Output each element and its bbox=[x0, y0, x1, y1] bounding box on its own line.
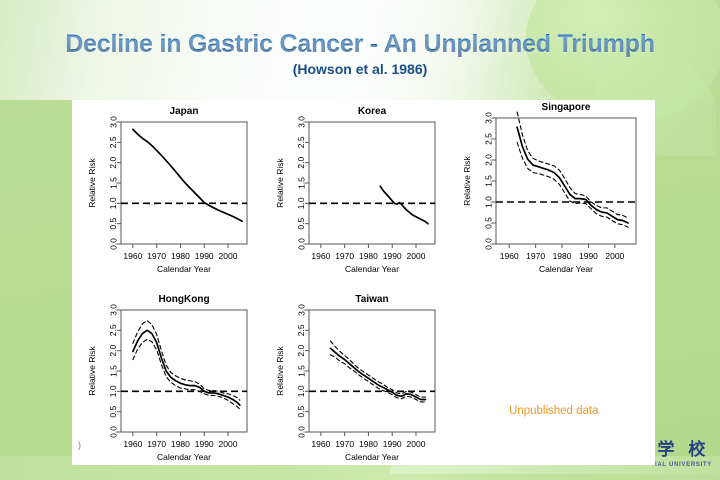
y-tick-label: 0.0 bbox=[483, 238, 493, 250]
x-axis-label: Calendar Year bbox=[539, 264, 593, 274]
y-tick-label: 1.0 bbox=[108, 385, 118, 397]
y-tick-label: 1.0 bbox=[108, 197, 118, 209]
chart-title: Japan bbox=[170, 106, 199, 117]
y-axis-label: Relative Risk bbox=[275, 345, 285, 395]
series-estimate bbox=[517, 127, 628, 223]
x-tick-label: 1980 bbox=[359, 251, 378, 261]
y-tick-label: 2.0 bbox=[108, 344, 118, 356]
y-tick-label: 1.5 bbox=[108, 177, 118, 189]
x-tick-label: 2000 bbox=[605, 251, 624, 261]
y-tick-label: 2.5 bbox=[296, 136, 306, 148]
y-tick-label: 0.5 bbox=[108, 217, 118, 229]
y-tick-label: 2.5 bbox=[108, 324, 118, 336]
x-tick-label: 1990 bbox=[195, 251, 214, 261]
series-estimate bbox=[133, 129, 242, 221]
x-tick-label: 1960 bbox=[123, 251, 142, 261]
y-tick-label: 1.5 bbox=[296, 365, 306, 377]
title-block: Decline in Gastric Cancer - An Unplanned… bbox=[0, 30, 720, 77]
y-tick-label: 0.5 bbox=[483, 217, 493, 229]
plot-frame bbox=[309, 310, 435, 432]
x-tick-label: 1990 bbox=[579, 251, 598, 261]
x-tick-label: 1970 bbox=[335, 251, 354, 261]
series-estimate bbox=[133, 330, 240, 405]
x-tick-label: 1960 bbox=[123, 439, 142, 449]
plot-frame bbox=[121, 122, 247, 244]
y-tick-label: 0.5 bbox=[296, 217, 306, 229]
chart-title: HongKong bbox=[158, 294, 209, 305]
logo-caption: IAL UNIVERSITY bbox=[655, 462, 712, 468]
y-tick-label: 3.0 bbox=[296, 116, 306, 128]
x-tick-label: 1960 bbox=[500, 251, 519, 261]
stray-mark: ) bbox=[78, 440, 81, 450]
y-tick-label: 2.5 bbox=[483, 133, 493, 145]
university-logo: 学 校 IAL UNIVERSITY bbox=[655, 442, 712, 468]
chart-title: Singapore bbox=[542, 102, 591, 113]
y-axis-label: Relative Risk bbox=[87, 157, 97, 207]
x-tick-label: 1960 bbox=[311, 439, 330, 449]
y-tick-label: 2.5 bbox=[108, 136, 118, 148]
page-subtitle: (Howson et al. 1986) bbox=[0, 61, 720, 77]
x-axis-label: Calendar Year bbox=[345, 264, 399, 274]
y-tick-label: 1.5 bbox=[483, 175, 493, 187]
x-tick-label: 1970 bbox=[147, 439, 166, 449]
series-lower bbox=[133, 339, 240, 409]
y-tick-label: 0.0 bbox=[296, 238, 306, 250]
y-tick-label: 3.0 bbox=[108, 116, 118, 128]
y-tick-label: 2.0 bbox=[296, 344, 306, 356]
x-tick-label: 2000 bbox=[407, 439, 426, 449]
x-tick-label: 1990 bbox=[383, 439, 402, 449]
y-tick-label: 1.5 bbox=[108, 365, 118, 377]
x-axis-label: Calendar Year bbox=[157, 264, 211, 274]
page-title: Decline in Gastric Cancer - An Unplanned… bbox=[0, 30, 720, 59]
x-tick-label: 2000 bbox=[219, 439, 238, 449]
y-tick-label: 3.0 bbox=[108, 304, 118, 316]
x-tick-label: 1990 bbox=[383, 251, 402, 261]
chart-panel-singapore: Singapore0.00.51.01.52.02.53.0Relative R… bbox=[462, 102, 636, 274]
x-tick-label: 1990 bbox=[195, 439, 214, 449]
y-tick-label: 0.0 bbox=[108, 238, 118, 250]
y-tick-label: 3.0 bbox=[296, 304, 306, 316]
y-tick-label: 2.5 bbox=[296, 324, 306, 336]
chart-title: Taiwan bbox=[355, 294, 388, 305]
x-tick-label: 1970 bbox=[335, 439, 354, 449]
y-tick-label: 1.5 bbox=[296, 177, 306, 189]
x-tick-label: 1980 bbox=[171, 251, 190, 261]
y-tick-label: 1.0 bbox=[296, 197, 306, 209]
y-tick-label: 0.5 bbox=[108, 405, 118, 417]
chart-panel-taiwan: Taiwan0.00.51.01.52.02.53.0Relative Risk… bbox=[275, 294, 435, 462]
y-axis-label: Relative Risk bbox=[87, 345, 97, 395]
logo-glyphs: 学 校 bbox=[655, 442, 712, 459]
x-axis-label: Calendar Year bbox=[157, 452, 211, 462]
y-tick-label: 2.0 bbox=[108, 156, 118, 168]
x-tick-label: 1980 bbox=[171, 439, 190, 449]
y-axis-label: Relative Risk bbox=[275, 157, 285, 207]
y-tick-label: 2.0 bbox=[483, 154, 493, 166]
y-tick-label: 0.0 bbox=[108, 426, 118, 438]
plot-frame bbox=[309, 122, 435, 244]
chart-title: Korea bbox=[358, 106, 387, 117]
y-tick-label: 1.0 bbox=[296, 385, 306, 397]
y-tick-label: 0.5 bbox=[296, 405, 306, 417]
x-tick-label: 1970 bbox=[526, 251, 545, 261]
figure-panel: Japan0.00.51.01.52.02.53.0Relative Risk1… bbox=[72, 100, 655, 465]
series-estimate bbox=[380, 186, 428, 223]
chart-panel-japan: Japan0.00.51.01.52.02.53.0Relative Risk1… bbox=[87, 106, 247, 274]
y-tick-label: 3.0 bbox=[483, 112, 493, 124]
x-tick-label: 2000 bbox=[407, 251, 426, 261]
x-tick-label: 1980 bbox=[553, 251, 572, 261]
chart-panel-hongkong: HongKong0.00.51.01.52.02.53.0Relative Ri… bbox=[87, 294, 247, 462]
chart-panel-korea: Korea0.00.51.01.52.02.53.0Relative Risk1… bbox=[275, 106, 435, 274]
y-axis-label: Relative Risk bbox=[462, 155, 472, 205]
x-tick-label: 1970 bbox=[147, 251, 166, 261]
y-tick-label: 1.0 bbox=[483, 196, 493, 208]
y-tick-label: 2.0 bbox=[296, 156, 306, 168]
x-tick-label: 1980 bbox=[359, 439, 378, 449]
unpublished-data-note: Unpublished data bbox=[509, 405, 599, 417]
x-tick-label: 1960 bbox=[311, 251, 330, 261]
y-tick-label: 0.0 bbox=[296, 426, 306, 438]
x-tick-label: 2000 bbox=[219, 251, 238, 261]
series-lower bbox=[517, 142, 628, 227]
x-axis-label: Calendar Year bbox=[345, 452, 399, 462]
